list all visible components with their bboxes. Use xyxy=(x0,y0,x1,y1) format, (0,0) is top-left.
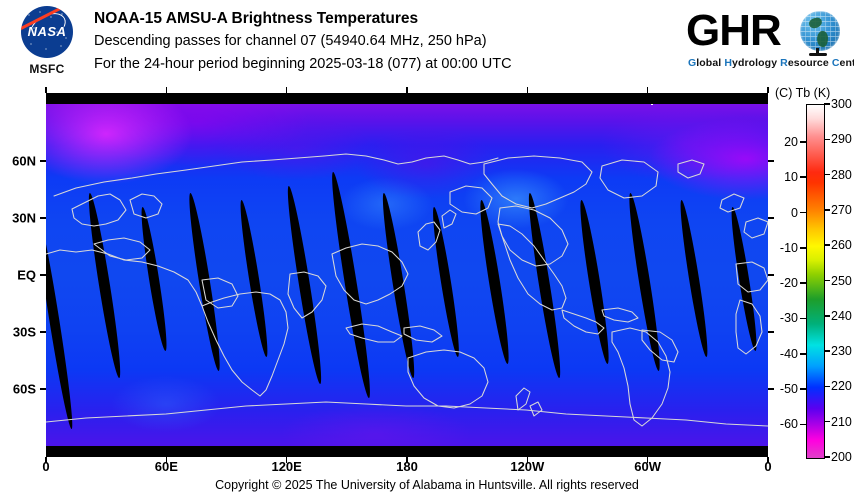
colorbar-label-kelvin: 300 xyxy=(831,97,852,111)
colorbar-tick-celsius xyxy=(800,141,806,143)
colorbar-tick-celsius xyxy=(800,318,806,320)
y-axis-tick xyxy=(40,388,46,390)
ghrc-subtitle-part: C xyxy=(832,57,840,69)
colorbar-label-celsius: -30 xyxy=(760,311,798,325)
ghrc-subtitle-part: lobal xyxy=(696,57,724,69)
x-axis-label: 60W xyxy=(634,459,661,474)
colorbar-label-celsius-wrap: -40 xyxy=(760,354,798,368)
x-axis-tick xyxy=(166,87,168,93)
colorbar-tick-celsius xyxy=(800,424,806,426)
colorbar-tick-celsius xyxy=(800,212,806,214)
x-axis-label: 180 xyxy=(396,459,418,474)
y-axis-label: EQ xyxy=(0,268,36,283)
colorbar-label-kelvin: 290 xyxy=(831,132,852,146)
colorbar-tick-kelvin xyxy=(824,139,830,141)
colorbar-label-celsius-wrap: 0 xyxy=(760,213,798,227)
colorbar-label-kelvin: 280 xyxy=(831,168,852,182)
colorbar-tick-kelvin xyxy=(824,280,830,282)
x-axis-label: 120E xyxy=(271,459,301,474)
colorbar-label-celsius-wrap: -30 xyxy=(760,318,798,332)
colorbar-label-celsius-wrap: -10 xyxy=(760,248,798,262)
x-axis-tick xyxy=(45,87,47,93)
colorbar-tick-kelvin xyxy=(824,103,830,105)
colorbar-tick-kelvin xyxy=(824,244,830,246)
x-axis-tick xyxy=(647,87,649,93)
map-panel[interactable] xyxy=(46,93,768,457)
colorbar-label-celsius: -20 xyxy=(760,276,798,290)
y-axis-label: 30S xyxy=(0,325,36,340)
colorbar-label-celsius-wrap: -60 xyxy=(760,424,798,438)
x-axis-tick xyxy=(767,87,769,93)
nasa-center-label: MSFC xyxy=(14,62,80,76)
copyright-notice: Copyright © 2025 The University of Alaba… xyxy=(0,478,854,492)
x-axis-label: 0 xyxy=(764,459,771,474)
y-axis-tick xyxy=(40,331,46,333)
x-axis-tick xyxy=(406,87,408,93)
brightness-temperature-field[interactable] xyxy=(46,104,768,446)
ghrc-subtitle-part: enter xyxy=(840,57,854,69)
y-axis-tick xyxy=(768,160,774,162)
colorbar-tick-celsius xyxy=(800,353,806,355)
colorbar-label-celsius: 10 xyxy=(760,170,798,184)
colorbar-label-kelvin: 240 xyxy=(831,309,852,323)
colorbar-tick-kelvin xyxy=(824,350,830,352)
subtitle-period: For the 24-hour period beginning 2025-03… xyxy=(94,53,674,76)
x-axis-label: 0 xyxy=(42,459,49,474)
colorbar-label-celsius: -50 xyxy=(760,382,798,396)
nasa-wordmark: NASA xyxy=(21,24,73,39)
globe-icon xyxy=(800,11,844,55)
y-axis-label: 30N xyxy=(0,210,36,225)
colorbar-tick-celsius xyxy=(800,247,806,249)
colorbar-label-kelvin: 230 xyxy=(831,344,852,358)
colorbar-label-kelvin: 250 xyxy=(831,274,852,288)
nasa-meatball-icon: NASA xyxy=(21,6,73,58)
y-axis-tick xyxy=(40,217,46,219)
ghrc-subtitle-part: H xyxy=(724,57,732,69)
colorbar-label-celsius-wrap: 20 xyxy=(760,142,798,156)
colorbar-tick-kelvin xyxy=(824,421,830,423)
colorbar-label-celsius-wrap: 10 xyxy=(760,177,798,191)
coastline-overlay xyxy=(46,104,768,446)
ghrc-logo: GHR Global Hydrology Resource Center xyxy=(686,7,846,79)
colorbar-label-kelvin: 200 xyxy=(831,450,852,464)
temperature-colorbar[interactable] xyxy=(806,104,825,459)
colorbar-label-celsius-wrap: -20 xyxy=(760,283,798,297)
colorbar-label-celsius-wrap: -50 xyxy=(760,389,798,403)
colorbar-label-celsius: -10 xyxy=(760,241,798,255)
ghrc-wordmark: GHR xyxy=(686,7,781,55)
subtitle-channel: Descending passes for channel 07 (54940.… xyxy=(94,30,674,53)
nasa-msfc-logo: NASA MSFC xyxy=(14,6,80,84)
colorbar-tick-kelvin xyxy=(824,456,830,458)
colorbar-tick-kelvin xyxy=(824,386,830,388)
ghrc-subtitle-part: esource xyxy=(788,57,832,69)
x-axis-tick xyxy=(286,87,288,93)
colorbar-label-kelvin: 220 xyxy=(831,379,852,393)
y-axis-label: 60N xyxy=(0,154,36,169)
pass-marker-tick xyxy=(651,104,653,105)
x-axis-tick xyxy=(527,87,529,93)
descending-pass-direction-arrow xyxy=(651,104,695,105)
y-axis-tick xyxy=(40,274,46,276)
colorbar-label-celsius: 20 xyxy=(760,135,798,149)
title-block: NOAA-15 AMSU-A Brightness Temperatures D… xyxy=(94,8,674,76)
colorbar-label-kelvin: 270 xyxy=(831,203,852,217)
x-axis-label: 60E xyxy=(155,459,178,474)
y-axis-label: 60S xyxy=(0,381,36,396)
colorbar-header: (C) Tb (K) xyxy=(775,86,830,100)
colorbar-label-celsius: 0 xyxy=(760,206,798,220)
colorbar-label-celsius: -40 xyxy=(760,347,798,361)
colorbar-tick-kelvin xyxy=(824,174,830,176)
colorbar-tick-kelvin xyxy=(824,315,830,317)
page-title: NOAA-15 AMSU-A Brightness Temperatures xyxy=(94,8,674,30)
ghrc-subtitle-part: R xyxy=(780,57,788,69)
colorbar-tick-kelvin xyxy=(824,209,830,211)
colorbar-label-kelvin: 210 xyxy=(831,415,852,429)
ghrc-subtitle: Global Hydrology Resource Center xyxy=(688,57,854,69)
colorbar-label-celsius: -60 xyxy=(760,417,798,431)
x-axis-label: 120W xyxy=(510,459,544,474)
y-axis-tick xyxy=(40,160,46,162)
colorbar-label-kelvin: 260 xyxy=(831,238,852,252)
colorbar-tick-celsius xyxy=(800,388,806,390)
ghrc-subtitle-part: ydrology xyxy=(732,57,780,69)
colorbar-tick-celsius xyxy=(800,282,806,284)
colorbar-tick-celsius xyxy=(800,176,806,178)
